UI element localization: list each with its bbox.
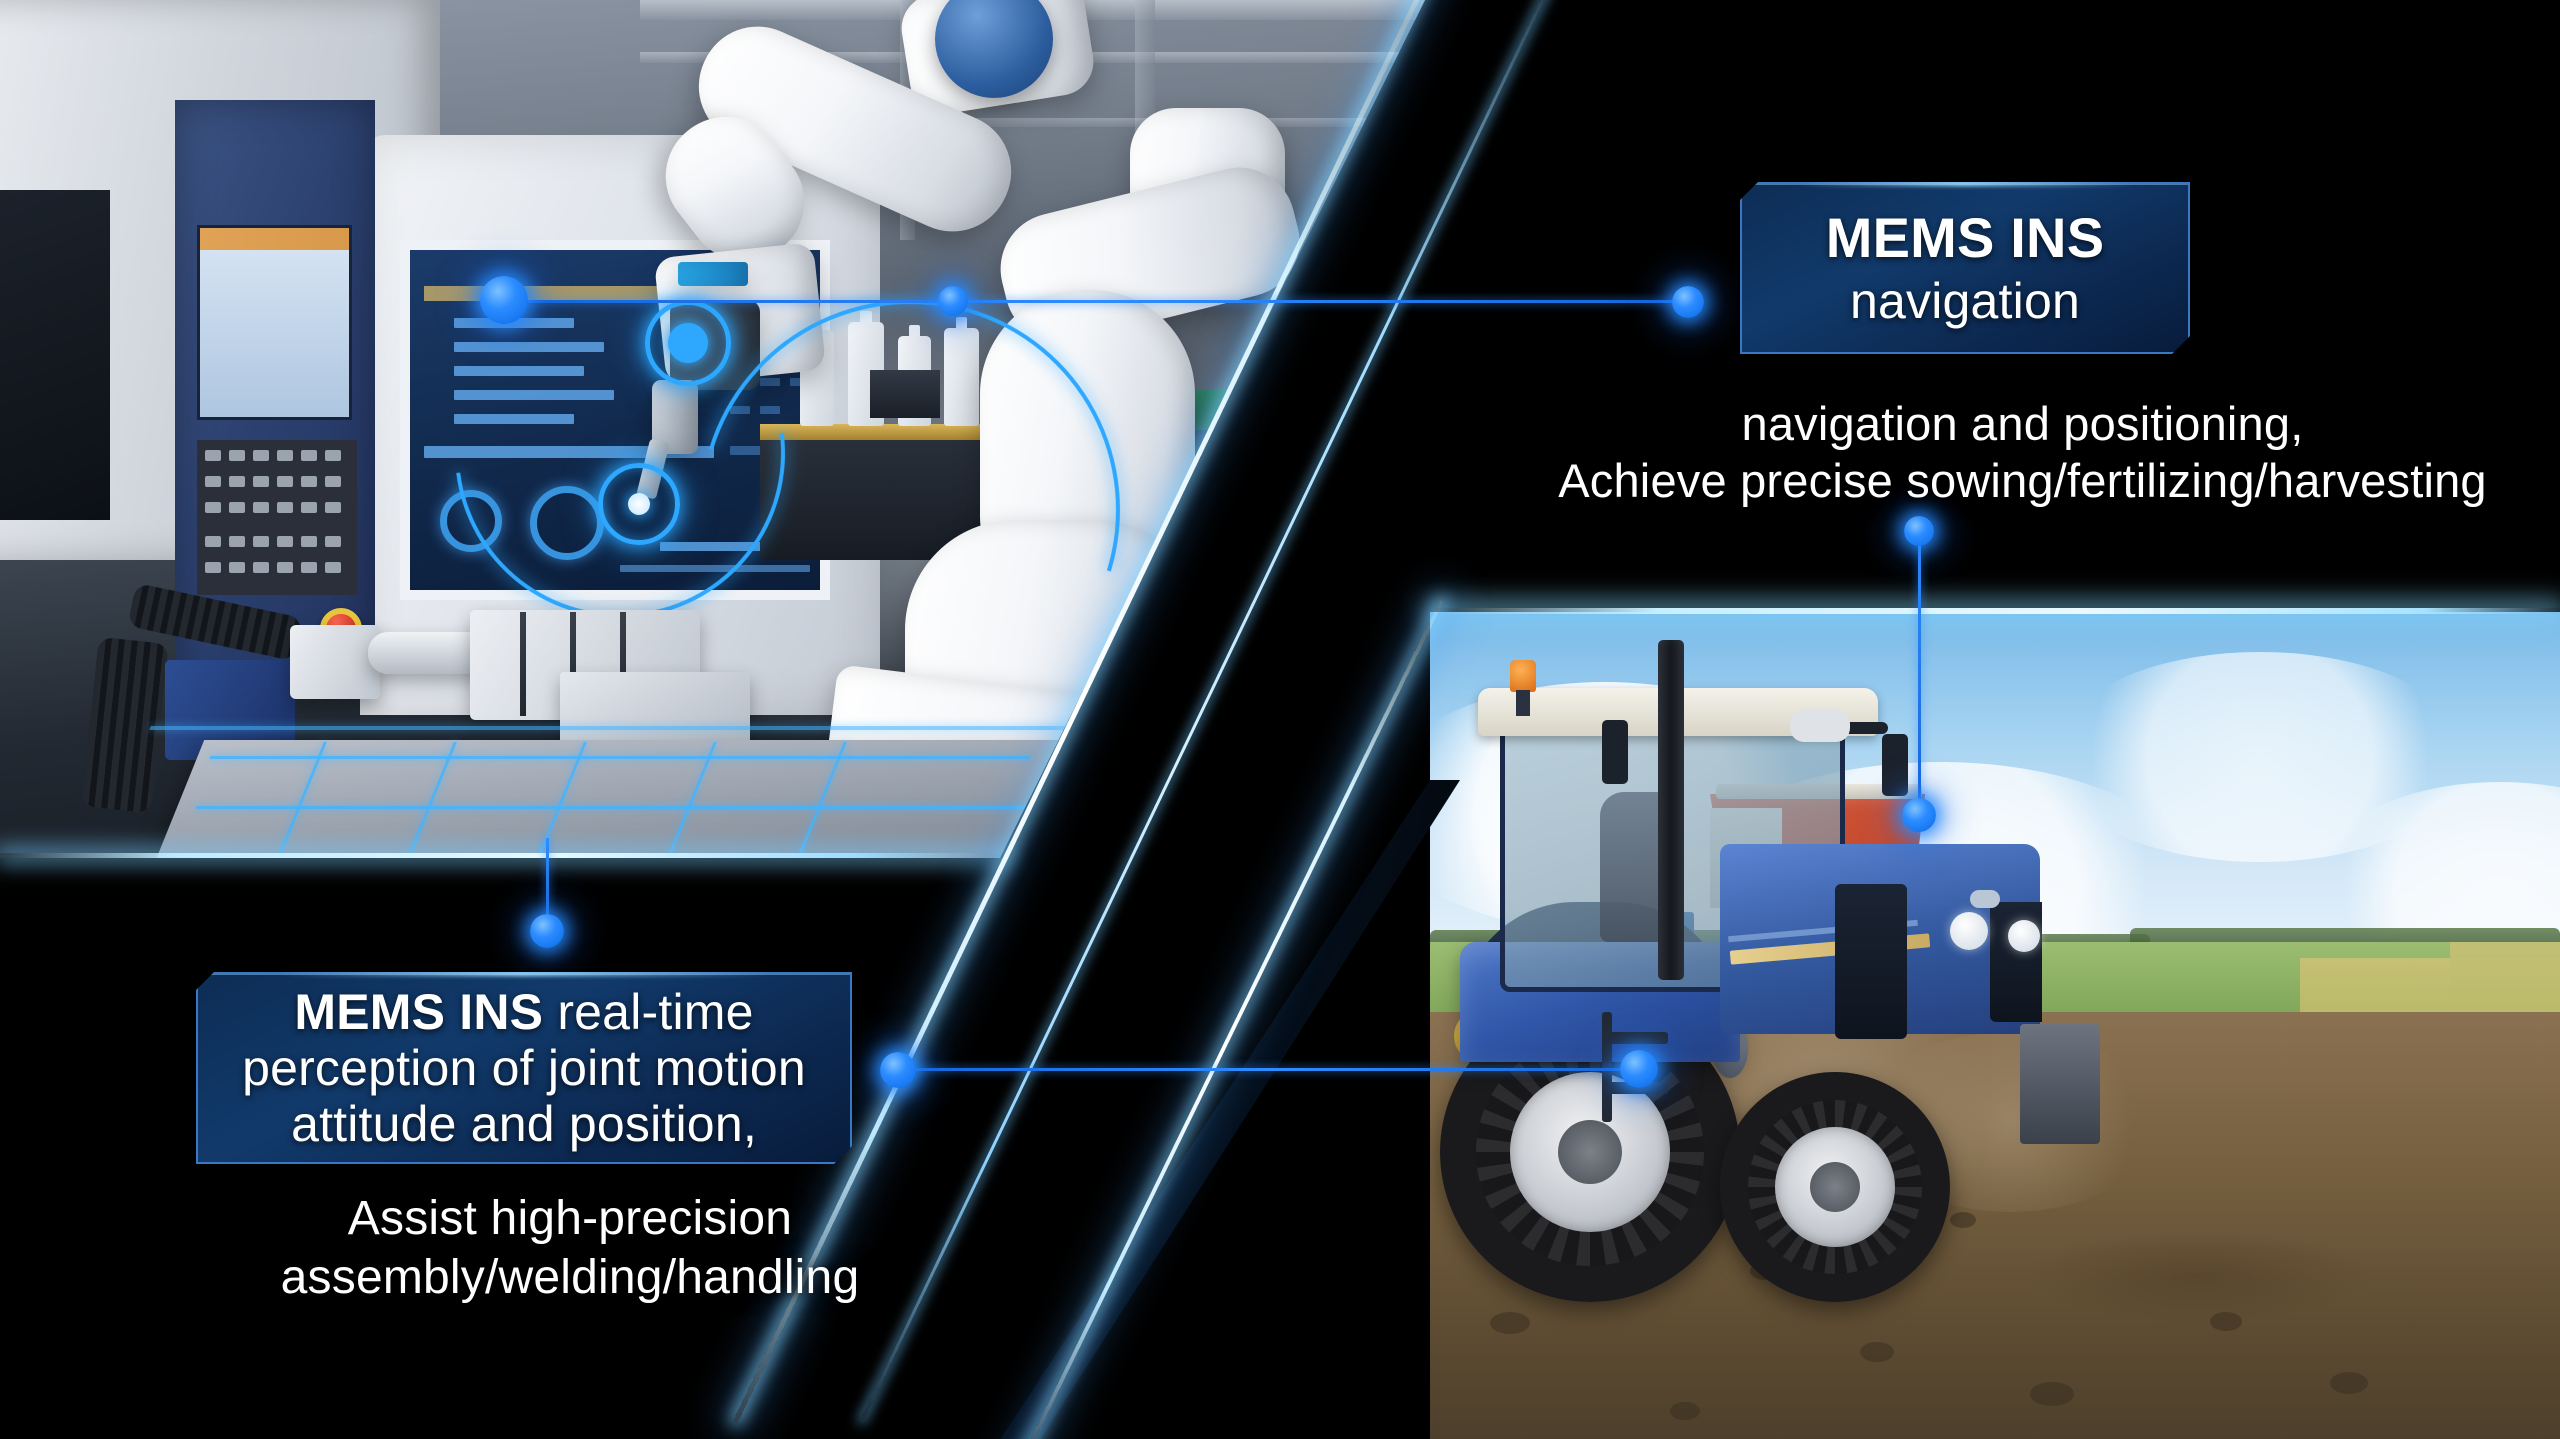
node-tractor-sky-anchor [1902,798,1936,832]
tractor-rear-hub [1558,1120,1622,1184]
label-motion-line-2: perception of joint motion [242,1040,806,1096]
tractor-mirror-left [1602,720,1628,784]
label-box-navigation[interactable]: MEMS INS navigation [1740,182,2190,354]
cable-hose-vertical [81,637,168,813]
connector-navigation-to-tractor [1918,530,1921,820]
tractor-logo [1970,890,2000,908]
caption-navigation-line-1: navigation and positioning, [1490,395,2555,452]
connector-motion-label-to-seeder [900,1068,1640,1071]
node-robot-arm-anchor [480,276,528,324]
caption-navigation: navigation and positioning, Achieve prec… [1490,395,2555,510]
label-navigation-title: MEMS INS [1826,207,2105,270]
connector-robot-to-navigation-label [510,300,1690,303]
tractor-beacon-light [1510,660,1536,692]
tractor-photo-top-glow [1432,608,2560,614]
node-navigation-label-left [1672,286,1704,318]
tractor-step-rail [1602,1012,1612,1122]
label-box-motion-perception[interactable]: MEMS INS real-time perception of joint m… [196,972,852,1164]
cnc-machine-window [0,190,110,520]
node-motion-label-right [880,1052,916,1088]
tractor-field-photo [1430,612,2560,1439]
label-motion-line-1: MEMS INS real-time [294,984,753,1040]
tractor-step [1608,1032,1668,1044]
node-robot-photo-drop [530,914,564,948]
robot-arm-indicator-strip [678,262,748,286]
tractor-mirror-right [1882,734,1908,796]
label-motion-line-1-rest: real-time [543,984,753,1040]
tractor-headlight [2008,920,2040,952]
node-navigation-caption-bottom [1904,516,1934,546]
actuator-coupler [290,625,380,699]
tractor-work-light [1790,710,1850,742]
tractor-front-weights [2020,1024,2100,1144]
caption-navigation-line-2: Achieve precise sowing/fertilizing/harve… [1490,452,2555,509]
label-navigation-subtitle: navigation [1850,273,2080,329]
tractor-beacon-stem [1516,690,1530,716]
caption-motion-line-2: assembly/welding/handling [190,1249,950,1308]
cnc-small-screen [197,225,352,420]
robot-photo-bottom-glow [0,853,1005,858]
label-motion-brand: MEMS INS [294,984,543,1040]
divider-wedge-lower [1000,780,1460,1439]
tractor-side-grille [1835,884,1907,1039]
tractor-exhaust-stack [1658,640,1684,980]
cnc-keypad [197,440,357,595]
label-motion-line-3: attitude and position, [291,1096,757,1152]
tractor-front-grille [1990,902,2042,1022]
tractor-front-hub [1810,1162,1860,1212]
caption-motion-perception: Assist high-precision assembly/welding/h… [190,1190,950,1307]
infographic-canvas: MEMS INS navigation navigation and posit… [0,0,2560,1439]
node-seeder-anchor [1620,1050,1658,1088]
tractor-headlight [1950,912,1988,950]
hud-arc-endpoint [1190,800,1212,822]
node-robot-line-start [938,286,968,316]
caption-motion-line-1: Assist high-precision [190,1190,950,1249]
bench-cabinet [1180,430,1360,525]
